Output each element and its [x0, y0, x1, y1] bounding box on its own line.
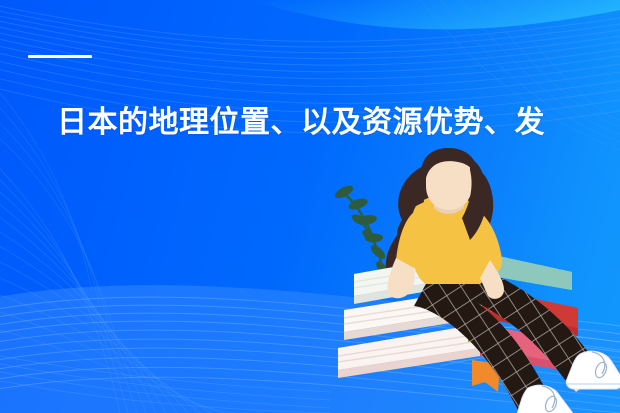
title-accent-bar: [28, 55, 92, 58]
hero-illustration: [330, 148, 620, 413]
page-title: 日本的地理位置、以及资源优势、发: [57, 103, 620, 143]
plant-leaf-icon: [333, 183, 390, 277]
illustration-svg: [330, 148, 620, 413]
slide-canvas: 日本的地理位置、以及资源优势、发: [0, 0, 620, 413]
